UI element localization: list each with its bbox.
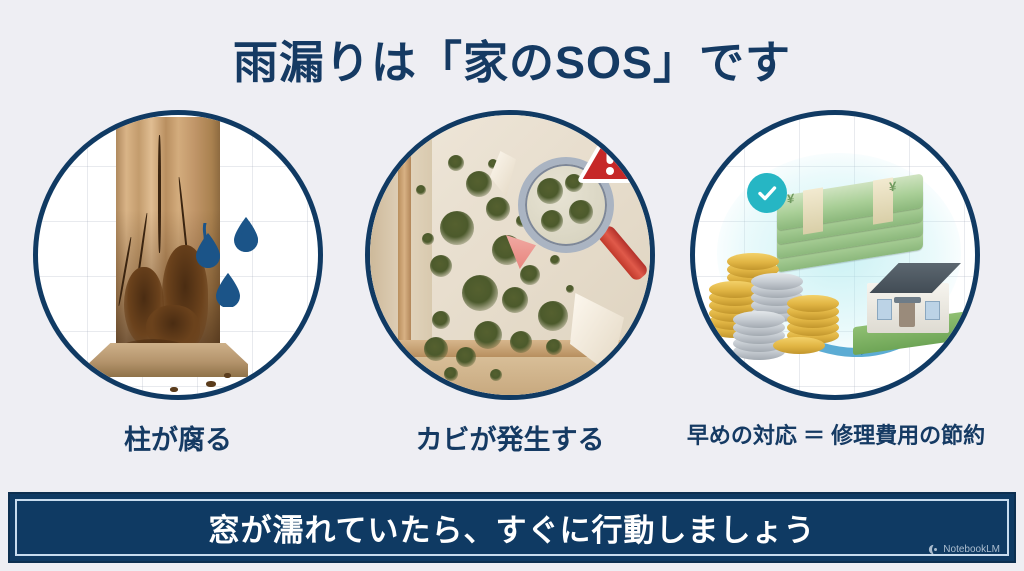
crack-icon (158, 135, 161, 253)
panel-rotting-post[interactable] (33, 110, 323, 400)
debris (206, 381, 216, 387)
check-icon (755, 181, 779, 205)
mold-spot (546, 339, 562, 355)
mold-spot-zoomed (569, 200, 593, 224)
banner-text: 窓が濡れていたら、すぐに行動しましょう (208, 505, 815, 550)
mold-spot (430, 255, 452, 277)
mold-spot (444, 367, 458, 381)
mold-spot (486, 197, 510, 221)
check-badge-icon (747, 173, 787, 213)
mold-spot (424, 337, 448, 361)
mold-spot (466, 171, 492, 197)
house-window (925, 301, 940, 320)
mold-spot (462, 275, 498, 311)
mold-spot-zoomed (541, 210, 563, 232)
debris (170, 387, 178, 392)
water-drip-trail (198, 223, 212, 249)
panel-mold[interactable] (365, 110, 655, 400)
mold-spot-zoomed (537, 178, 563, 204)
mold-spot (456, 347, 476, 367)
mold-spot (566, 285, 574, 293)
door-canopy (894, 297, 921, 303)
panel-savings[interactable]: ¥ ¥ (690, 110, 980, 400)
caption-row: 柱が腐る カビが発生する 早めの対応 ＝ 修理費用の節約 (0, 418, 1024, 462)
page-title: 雨漏りは「家のSOS」です (0, 26, 1024, 91)
slide-root: 雨漏りは「家のSOS」です (0, 0, 1024, 571)
bill-band (803, 187, 823, 234)
house-door (899, 301, 915, 327)
door-trim (398, 115, 411, 367)
mold-spot (510, 331, 532, 353)
mold-spot (440, 211, 474, 245)
panel-row: ¥ ¥ (0, 110, 1024, 400)
caption-savings: 早めの対応 ＝ 修理費用の節約 (668, 418, 1004, 450)
mold-spot (432, 311, 450, 329)
circle-frame-1 (33, 110, 323, 400)
call-to-action-banner: 窓が濡れていたら、すぐに行動しましょう NotebookLM (8, 492, 1016, 563)
mold-spot (550, 255, 560, 265)
yen-mark: ¥ (787, 190, 794, 206)
mold-spot (502, 287, 528, 313)
yen-mark: ¥ (889, 178, 896, 194)
circle-frame-2 (365, 110, 655, 400)
watermark-label: NotebookLM (943, 544, 1000, 555)
mold-spot (422, 233, 434, 245)
watermark: NotebookLM (928, 544, 1000, 555)
circle-frame-3: ¥ ¥ (690, 110, 980, 400)
warning-triangle-icon (578, 125, 642, 183)
house-icon (853, 257, 971, 349)
house-window (877, 299, 892, 320)
notebooklm-logo-icon (928, 544, 939, 555)
mold-spot (474, 321, 502, 349)
mold-spot (538, 301, 568, 331)
debris (106, 389, 112, 394)
caption-mold: カビが発生する (365, 418, 655, 457)
caption-rotting-post: 柱が腐る (33, 418, 323, 457)
mold-spot (490, 369, 502, 381)
post-base (88, 343, 248, 377)
debris (224, 373, 231, 378)
mold-spot (520, 265, 540, 285)
mold-spot (448, 155, 464, 171)
mold-spot (416, 185, 426, 195)
debris (90, 381, 99, 387)
